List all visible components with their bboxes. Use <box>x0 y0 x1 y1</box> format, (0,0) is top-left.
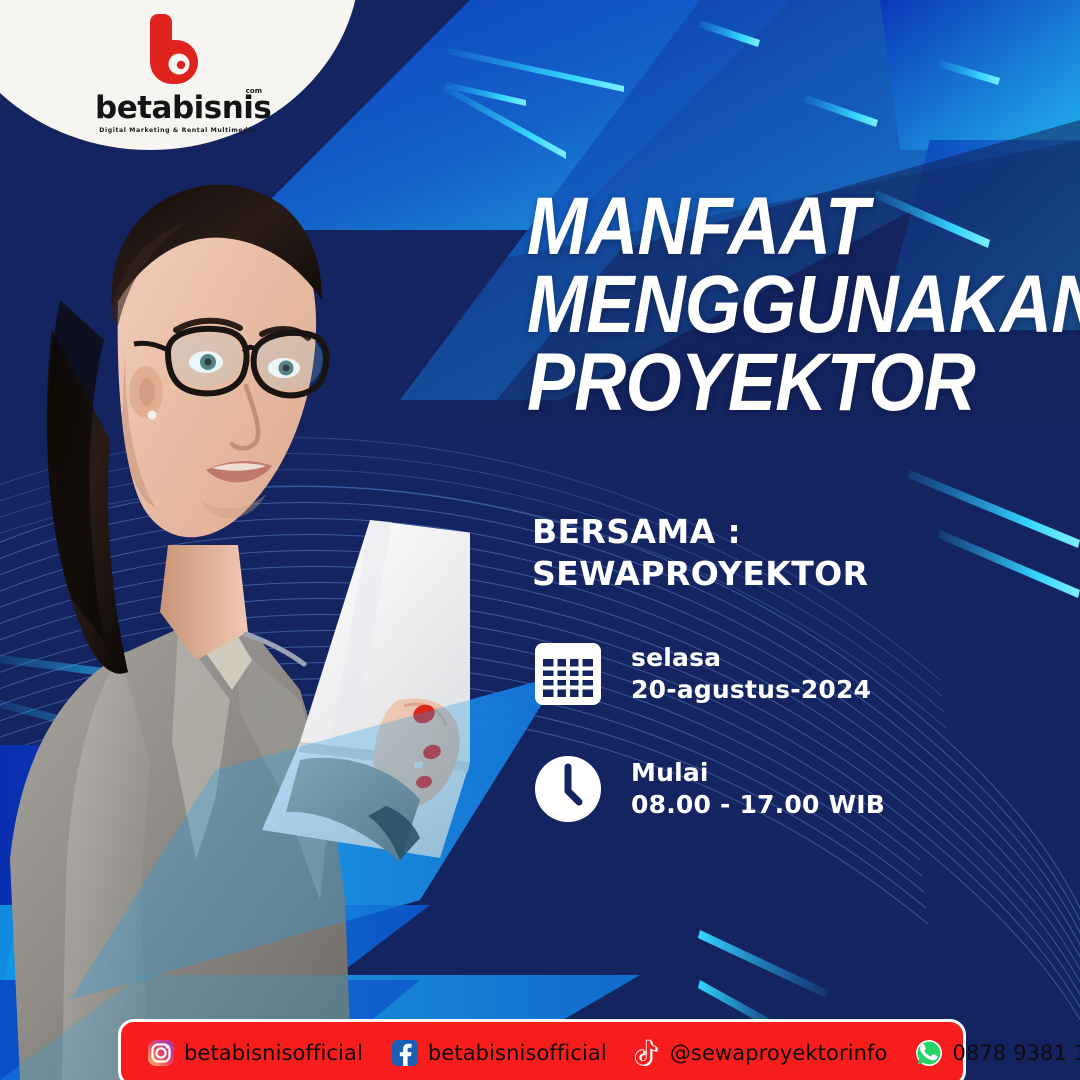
event-time-label: Mulai <box>631 758 709 787</box>
contact-facebook-label: betabisnisofficial <box>428 1041 607 1065</box>
brand-wordmark: betabisnis com <box>95 93 260 124</box>
subtitle: BERSAMA : SEWAPROYEKTOR <box>532 511 868 594</box>
brand-name: betabisnis <box>95 90 271 126</box>
betabisnis-b-logo-icon <box>138 8 218 92</box>
facebook-icon <box>391 1039 419 1067</box>
contact-bar: betabisnisofficial betabisnisofficial @s… <box>118 1019 966 1080</box>
event-time-value: 08.00 - 17.00 WIB <box>631 789 885 821</box>
earring <box>148 411 157 420</box>
contact-instagram-label: betabisnisofficial <box>184 1041 363 1065</box>
calendar-icon <box>531 637 605 711</box>
event-date-day: selasa <box>631 643 721 672</box>
event-time-row: Mulai 08.00 - 17.00 WIB <box>531 752 885 826</box>
contact-whatsapp[interactable]: 0878 9381 1922 <box>915 1039 1080 1067</box>
brand-tagline: Digital Marketing & Rental Multimedia <box>95 127 260 134</box>
contact-tiktok[interactable]: @sewaproyektorinfo <box>635 1039 888 1067</box>
contact-tiktok-label: @sewaproyektorinfo <box>670 1041 888 1065</box>
brand-tm: com <box>246 88 262 95</box>
contact-instagram[interactable]: betabisnisofficial <box>147 1039 363 1067</box>
event-date-row: selasa 20-agustus-2024 <box>531 637 871 711</box>
contact-whatsapp-label: 0878 9381 1922 <box>952 1041 1080 1065</box>
event-date-value: 20-agustus-2024 <box>631 674 871 706</box>
tiktok-icon <box>635 1039 661 1067</box>
headline-line-1: MANFAAT <box>527 188 1080 266</box>
page-title: MANFAAT MENGGUNAKAN PROYEKTOR <box>527 188 1080 422</box>
clock-icon <box>531 752 605 826</box>
instagram-icon <box>147 1039 175 1067</box>
headline-line-3: PROYEKTOR <box>527 344 1080 422</box>
event-time-text: Mulai 08.00 - 17.00 WIB <box>631 757 885 821</box>
brand-logo: betabisnis com Digital Marketing & Renta… <box>95 8 260 134</box>
headline-line-2: MENGGUNAKAN <box>527 266 1080 344</box>
contact-facebook[interactable]: betabisnisofficial <box>391 1039 607 1067</box>
subtitle-line-2: SEWAPROYEKTOR <box>532 553 868 595</box>
subtitle-line-1: BERSAMA : <box>532 511 868 553</box>
event-date-text: selasa 20-agustus-2024 <box>631 642 871 706</box>
promo-poster: betabisnis com Digital Marketing & Renta… <box>0 0 1080 1080</box>
whatsapp-icon <box>915 1039 943 1067</box>
